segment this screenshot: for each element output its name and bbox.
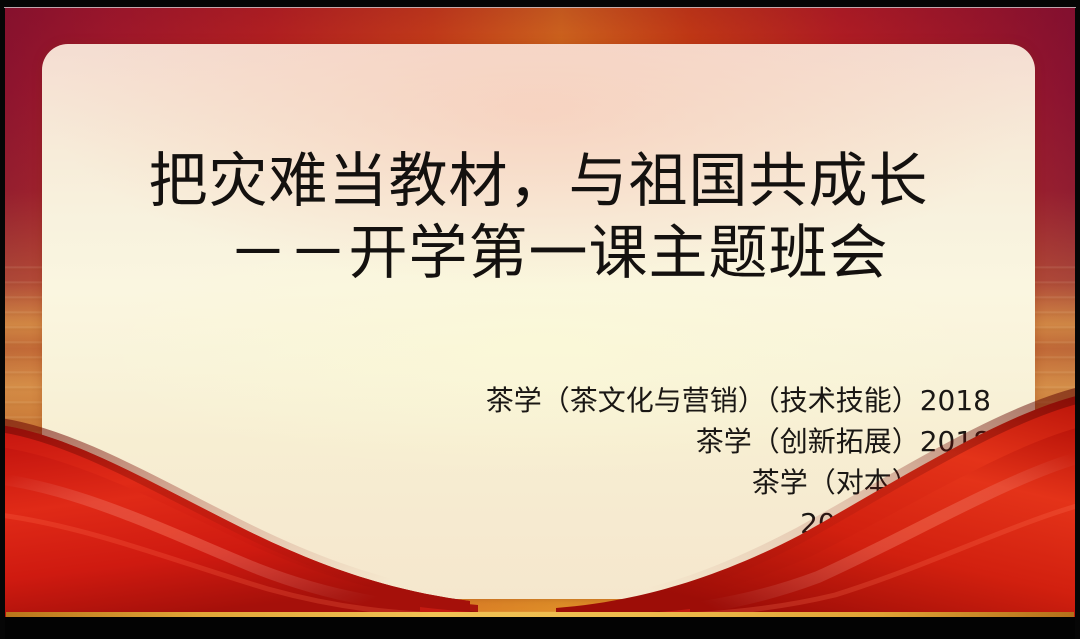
credit-line-class-2: 茶学（创新拓展）2018 <box>486 421 991 462</box>
credit-line-date: 2021年9月6日 <box>486 503 991 544</box>
credit-line-class-3: 茶学（对本）2018 <box>486 462 991 503</box>
title-line-primary: 把灾难当教材，与祖国共成长 <box>42 144 1035 218</box>
credit-line-class-1: 茶学（茶文化与营销）（技术技能）2018 <box>486 380 991 421</box>
slide-credits-block: 茶学（茶文化与营销）（技术技能）2018 茶学（创新拓展）2018 茶学（对本）… <box>486 380 991 544</box>
title-line-subtitle: －－开学第一课主题班会 <box>42 218 1035 288</box>
right-edge-bar <box>1075 0 1080 639</box>
top-letterbox-bar <box>0 0 1080 7</box>
bottom-letterbox-bar <box>0 617 1080 639</box>
presentation-slide: 把灾难当教材，与祖国共成长 －－开学第一课主题班会 茶学（茶文化与营销）（技术技… <box>0 0 1080 639</box>
slide-title: 把灾难当教材，与祖国共成长 －－开学第一课主题班会 <box>42 144 1035 288</box>
slide-content: 把灾难当教材，与祖国共成长 －－开学第一课主题班会 茶学（茶文化与营销）（技术技… <box>42 44 1035 599</box>
left-edge-bar <box>0 0 5 639</box>
